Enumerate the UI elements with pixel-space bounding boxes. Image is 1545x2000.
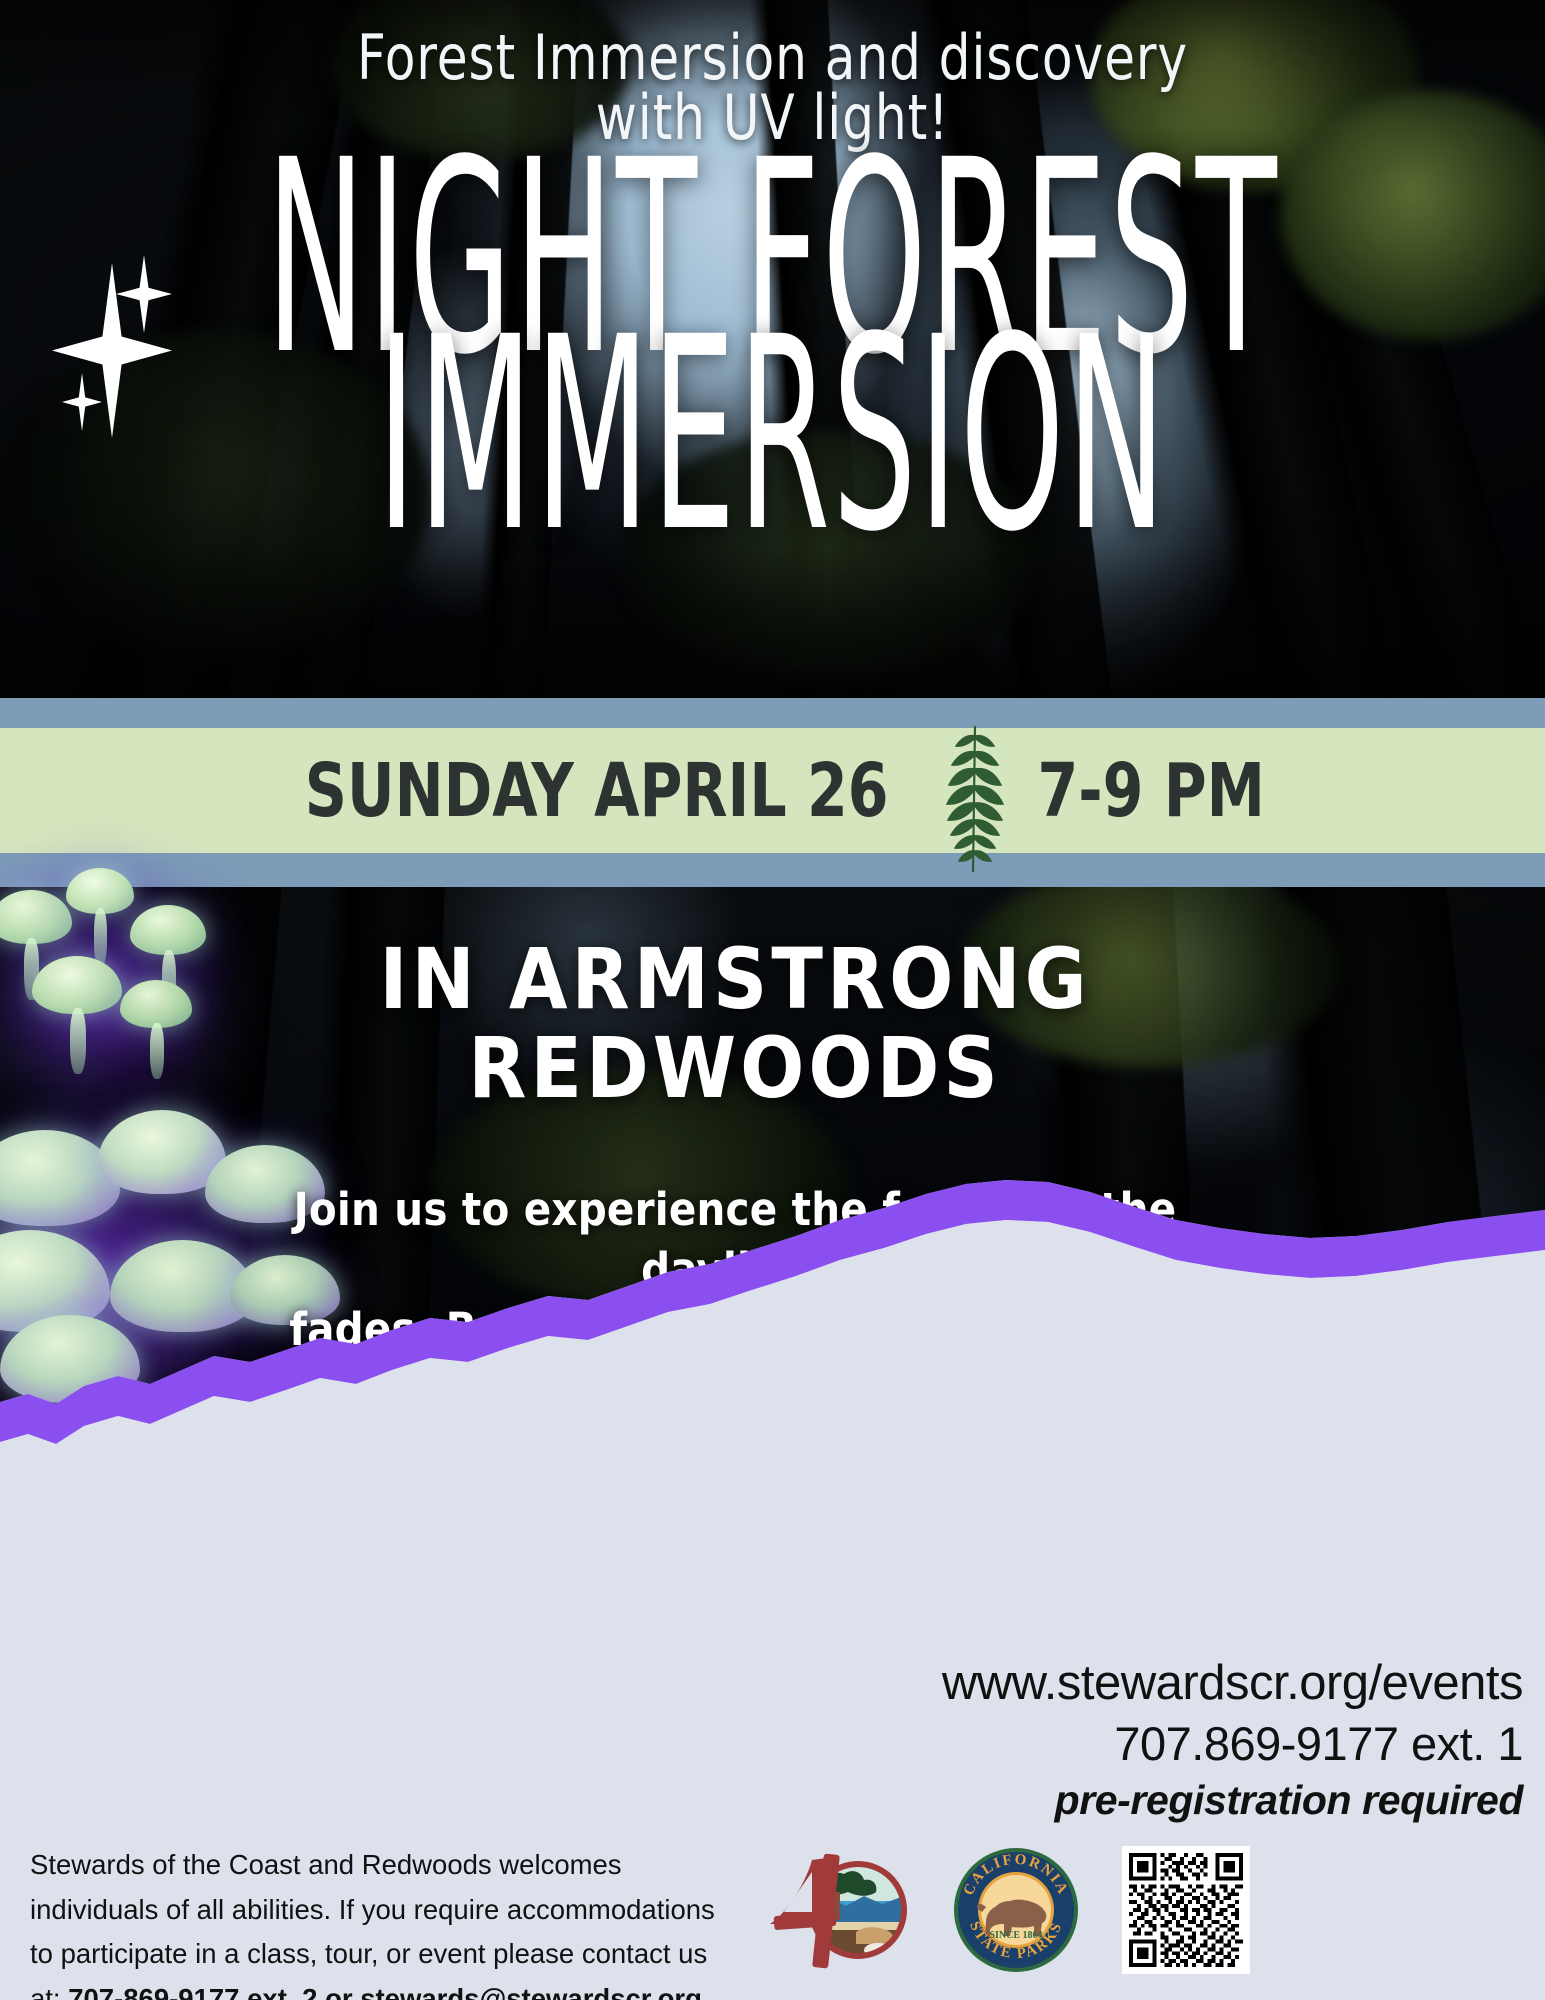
pre-registration-note: pre-registration required — [763, 1774, 1523, 1827]
california-state-parks-seal: SINCE 1864 CALIFORNIA STATE PARKS — [952, 1846, 1080, 1974]
event-date: SUNDAY APRIL 26 — [304, 748, 888, 834]
location-line-1: IN ARMSTRONG — [230, 935, 1240, 1024]
contact-block: www.stewardscr.org/events 707.869-9177 e… — [763, 1655, 1523, 1827]
date-time-row: SUNDAY APRIL 26 — [0, 728, 1545, 853]
stewards-40th-anniversary-logo — [760, 1846, 910, 1974]
fern-icon — [932, 724, 1018, 874]
sparkle-small-icon — [62, 373, 102, 431]
banner-rule-top — [0, 698, 1545, 728]
logo-row: SINCE 1864 CALIFORNIA STATE PARKS — [760, 1835, 1520, 1985]
sparkle-medium-icon — [116, 255, 172, 333]
poster-title-line-2: IMMERSION — [216, 327, 1328, 546]
event-poster: Forest Immersion and discovery with UV l… — [0, 0, 1545, 2000]
website-url[interactable]: www.stewardscr.org/events — [763, 1655, 1523, 1713]
phone-number[interactable]: 707.869-9177 ext. 1 — [763, 1713, 1523, 1774]
accessibility-contact-bold[interactable]: 707-869-9177 ext. 2 or stewards@stewards… — [68, 1983, 702, 2000]
event-time: 7-9 PM — [1037, 748, 1264, 834]
qr-code[interactable] — [1122, 1846, 1250, 1974]
location-heading: IN ARMSTRONG REDWOODS — [230, 935, 1240, 1113]
seal-since-text: SINCE 1864 — [989, 1930, 1042, 1941]
tagline-line-1: Forest Immersion and discovery — [77, 28, 1468, 88]
sparkle-icon — [40, 255, 230, 445]
accessibility-statement: Stewards of the Coast and Redwoods welco… — [30, 1843, 720, 2000]
location-line-2: REDWOODS — [230, 1024, 1240, 1113]
accessibility-text-part-1: Stewards of the Coast and Redwoods welco… — [30, 1849, 715, 2000]
